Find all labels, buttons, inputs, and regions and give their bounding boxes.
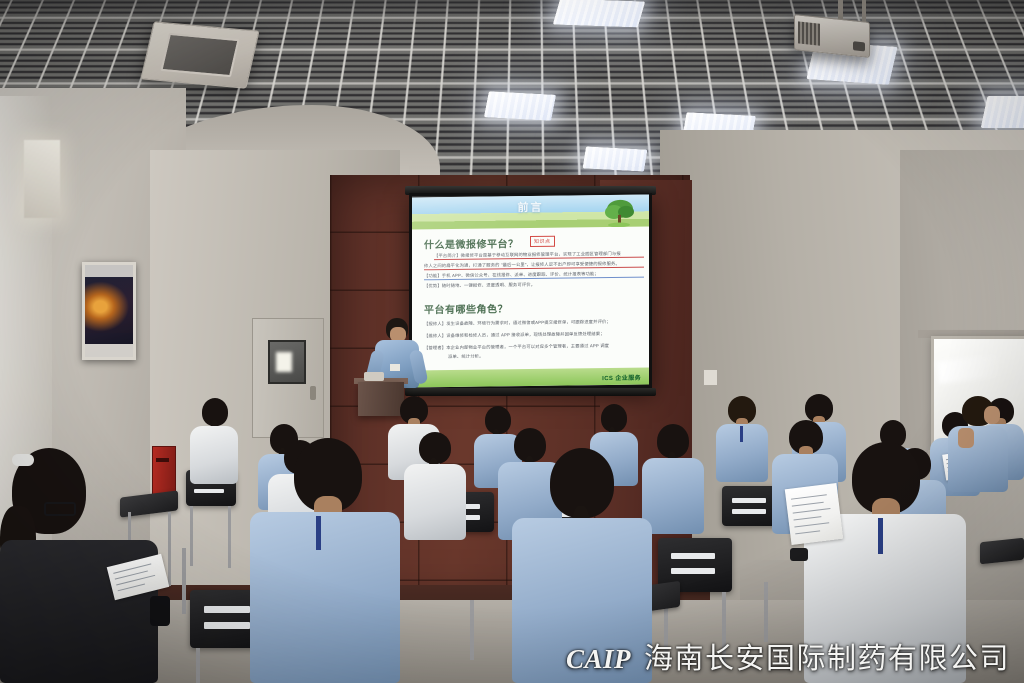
chair-label <box>204 606 250 613</box>
training-room-photo: 前言 什么是微报修平台？ 知识点 【平台简介】微报修平台是基于移动互联网的物业报… <box>0 0 1024 683</box>
chair-label <box>204 622 250 629</box>
slide-body-line: 【报修人】发生设备故障、环境行为需求时，通过微信或APP提交报修单，可跟踪进度并… <box>424 319 646 328</box>
presentation-slide: 前言 什么是微报修平台？ 知识点 【平台简介】微报修平台是基于移动互联网的物业报… <box>412 195 649 388</box>
person-lanyard <box>740 426 743 442</box>
handout-paper <box>785 483 843 545</box>
poster-header <box>85 265 133 277</box>
slide-body-line: 【维修人】设备维修和检修人员，通过 APP 接收派单，现场处理故障并回单反馈处理… <box>424 331 646 340</box>
slide-body-line: 派单、统计分析。 <box>448 352 628 361</box>
person-shirt <box>250 512 400 683</box>
person-shirt <box>190 426 238 484</box>
chair-leg <box>168 512 171 586</box>
raised-hand <box>958 428 974 448</box>
audience-person <box>948 396 1008 492</box>
audience-person <box>188 398 240 484</box>
poster-artwork <box>85 278 133 333</box>
person-face-profile <box>984 406 1000 424</box>
chair-label <box>671 568 715 574</box>
slide-footer-logo: ICS 企业服务 <box>602 373 641 382</box>
slide-body-line: 【优势】随时随地、一键报修、进度透明、服务可评价。 <box>424 281 644 290</box>
chair-leg <box>764 582 768 642</box>
chair-writing-tablet <box>980 538 1024 565</box>
slide-body-line: 【平台简介】微报修平台是基于移动互联网的物业报修管理平台，实现了工业园区管理部门… <box>434 251 644 261</box>
slide-banner: 前言 <box>412 195 649 230</box>
slide-body-line: 【功能】手机 APP、微信公众号、在线报修、派单、进度跟踪、评价、统计报表等功能… <box>424 271 644 281</box>
mobile-phone[interactable] <box>150 596 170 626</box>
slide-callout-badge: 知识点 <box>530 236 555 247</box>
chair-leg <box>196 648 200 683</box>
person-lanyard <box>316 516 321 550</box>
ac-grille <box>160 33 239 77</box>
chair-label <box>732 509 766 514</box>
poster-footer <box>85 344 133 357</box>
presenter-badge <box>390 364 400 371</box>
eyeglasses <box>44 502 76 516</box>
wall-light-nook <box>24 140 60 218</box>
door-handle[interactable] <box>310 386 316 400</box>
audience-person <box>404 432 466 540</box>
person-shirt <box>948 426 1008 492</box>
podium-laptop <box>364 372 384 381</box>
wall-socket-plate[interactable] <box>703 369 718 386</box>
slide-heading-2: 平台有哪些角色？ <box>424 300 508 316</box>
watermark-english: CAIP <box>566 644 631 675</box>
chair-leg <box>228 506 231 568</box>
ceiling-light-panel <box>583 146 648 171</box>
slide-footer-band: ICS 企业服务 <box>412 368 649 388</box>
ceiling-cassette-ac-left <box>140 21 259 88</box>
chair-label <box>194 489 224 493</box>
person-lanyard <box>878 518 883 554</box>
projector-vent <box>798 21 820 45</box>
chair-label <box>671 553 715 559</box>
chair-leg <box>182 548 186 614</box>
slide-heading-1: 什么是微报修平台？ <box>424 235 519 251</box>
wristwatch <box>790 548 808 561</box>
audience-person-foreground <box>250 438 400 683</box>
ceiling-light-panel <box>484 91 556 121</box>
projector-mount-arm <box>838 0 843 20</box>
watermark: CAIP 海南长安国际制药有限公司 <box>566 635 1010 677</box>
slide-body-line: 修人之间的扁平化沟通，打通了服务的 "最后一公里"，让报修人足不出户即可享受便捷… <box>424 261 644 271</box>
framed-poster-left-wall <box>82 262 136 360</box>
watermark-chinese: 海南长安国际制药有限公司 <box>644 635 1010 677</box>
screen-bottom-bar <box>405 388 656 396</box>
audience-person <box>716 396 768 482</box>
chair-label <box>732 498 766 503</box>
ceiling-light-panel <box>981 96 1024 128</box>
door-window-glare <box>276 352 292 372</box>
person-shirt <box>404 464 466 540</box>
tree-illustration-icon <box>601 197 637 227</box>
chair-leg <box>190 506 193 566</box>
hair-clip <box>12 454 34 466</box>
slide-body-line: 【管理者】本企业内部物业平台的管理者，一个平台可以对应多个管理者，主要通过 AP… <box>424 343 646 352</box>
projector-lens <box>853 41 865 51</box>
chair-leg <box>470 600 474 660</box>
ceiling-light-panel <box>553 0 646 28</box>
